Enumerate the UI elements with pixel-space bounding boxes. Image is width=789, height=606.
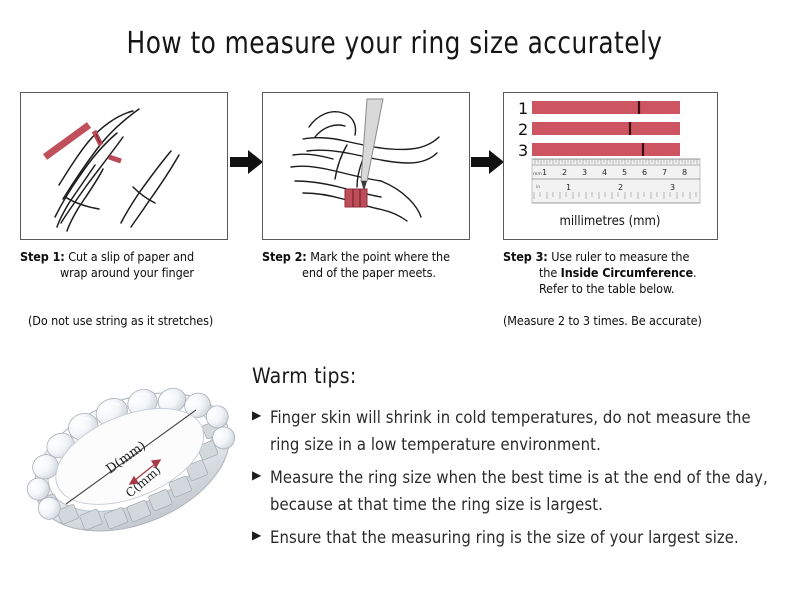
page-title: How to measure your ring size accurately [32,26,758,61]
ruler-with-marked-strips-icon: 1 2 3 [504,93,717,239]
triangle-bullet-icon: ▶ [252,524,270,541]
step-3-caption-line3: Refer to the table below. [503,281,718,297]
ring-diagram: D(mm) C(mm) [18,352,246,568]
step-1-illustration-panel [20,92,228,240]
step-3-note: (Measure 2 to 3 times. Be accurate) [503,313,702,328]
step-1-label: Step 1: [20,249,65,264]
step-2-caption-line1: Mark the point where the [310,249,450,264]
tip-1-line1: Finger skin will shrink in cold temperat… [270,408,651,427]
step-column-1: Step 1: Cut a slip of paper and wrap aro… [20,92,228,281]
svg-text:1: 1 [542,168,547,177]
svg-text:in: in [536,184,540,190]
svg-text:2: 2 [618,183,623,192]
step-3-caption-line1: Use ruler to measure the [551,249,689,264]
svg-text:3: 3 [518,141,528,160]
step-1-caption-line2: wrap around your finger [20,265,228,281]
step-2-caption-line2: end of the paper meets. [262,265,470,281]
svg-text:mm: mm [533,172,542,177]
svg-text:4: 4 [602,168,607,177]
arrow-step1-to-step2-icon [230,148,264,176]
triangle-bullet-icon: ▶ [252,404,270,421]
svg-text:3: 3 [582,168,587,177]
svg-text:6: 6 [642,168,647,177]
svg-text:1: 1 [518,99,528,118]
tip-text: Finger skin will shrink in cold temperat… [270,404,772,458]
step-1-caption: Step 1: Cut a slip of paper and wrap aro… [20,249,228,281]
step-2-label: Step 2: [262,249,307,264]
step-3-illustration-panel: 1 2 3 [503,92,718,240]
step-3-caption-line2-prefix: the [539,265,561,280]
tip-item: ▶ Ensure that the measuring ring is the … [252,524,772,551]
svg-text:1: 1 [566,183,571,192]
step-2-illustration-panel [262,92,470,240]
diamond-eternity-ring-icon: D(mm) C(mm) [18,352,246,568]
tip-text: Measure the ring size when the best time… [270,464,772,518]
step-column-3: 1 2 3 [503,92,718,297]
triangle-bullet-icon: ▶ [252,464,270,481]
tip-3-line2: size. [705,528,739,547]
inside-circumference-emphasis: Inside Circumference [561,265,693,280]
step-1-caption-line1: Cut a slip of paper and [68,249,194,264]
step-3-label: Step 3: [503,249,548,264]
arrow-step2-to-step3-icon [471,148,505,176]
hand-with-paper-strip-icon [21,93,227,239]
svg-text:millimetres (mm): millimetres (mm) [559,214,660,229]
step-3-caption-line2-suffix: . [693,265,696,280]
tip-2-line1: Measure the ring size when the best time… [270,468,682,487]
svg-text:8: 8 [682,168,687,177]
step-1-note: (Do not use string as it stretches) [28,313,213,328]
warm-tips-section: Warm tips: ▶ Finger skin will shrink in … [252,364,772,557]
tip-3-line1: Ensure that the measuring ring is the si… [270,528,700,547]
step-3-caption-line2: the Inside Circumference. [503,265,718,281]
svg-text:5: 5 [622,168,627,177]
hand-with-pen-marking-icon [263,93,469,239]
step-3-caption: Step 3: Use ruler to measure the the Ins… [503,249,718,297]
svg-text:2: 2 [518,120,528,139]
svg-text:2: 2 [562,168,567,177]
svg-text:3: 3 [670,183,675,192]
step-column-2: Step 2: Mark the point where the end of … [262,92,470,281]
step-2-caption: Step 2: Mark the point where the end of … [262,249,470,281]
tip-item: ▶ Measure the ring size when the best ti… [252,464,772,518]
warm-tips-heading: Warm tips: [252,364,772,388]
tip-text: Ensure that the measuring ring is the si… [270,524,772,551]
svg-text:7: 7 [662,168,667,177]
tip-item: ▶ Finger skin will shrink in cold temper… [252,404,772,458]
